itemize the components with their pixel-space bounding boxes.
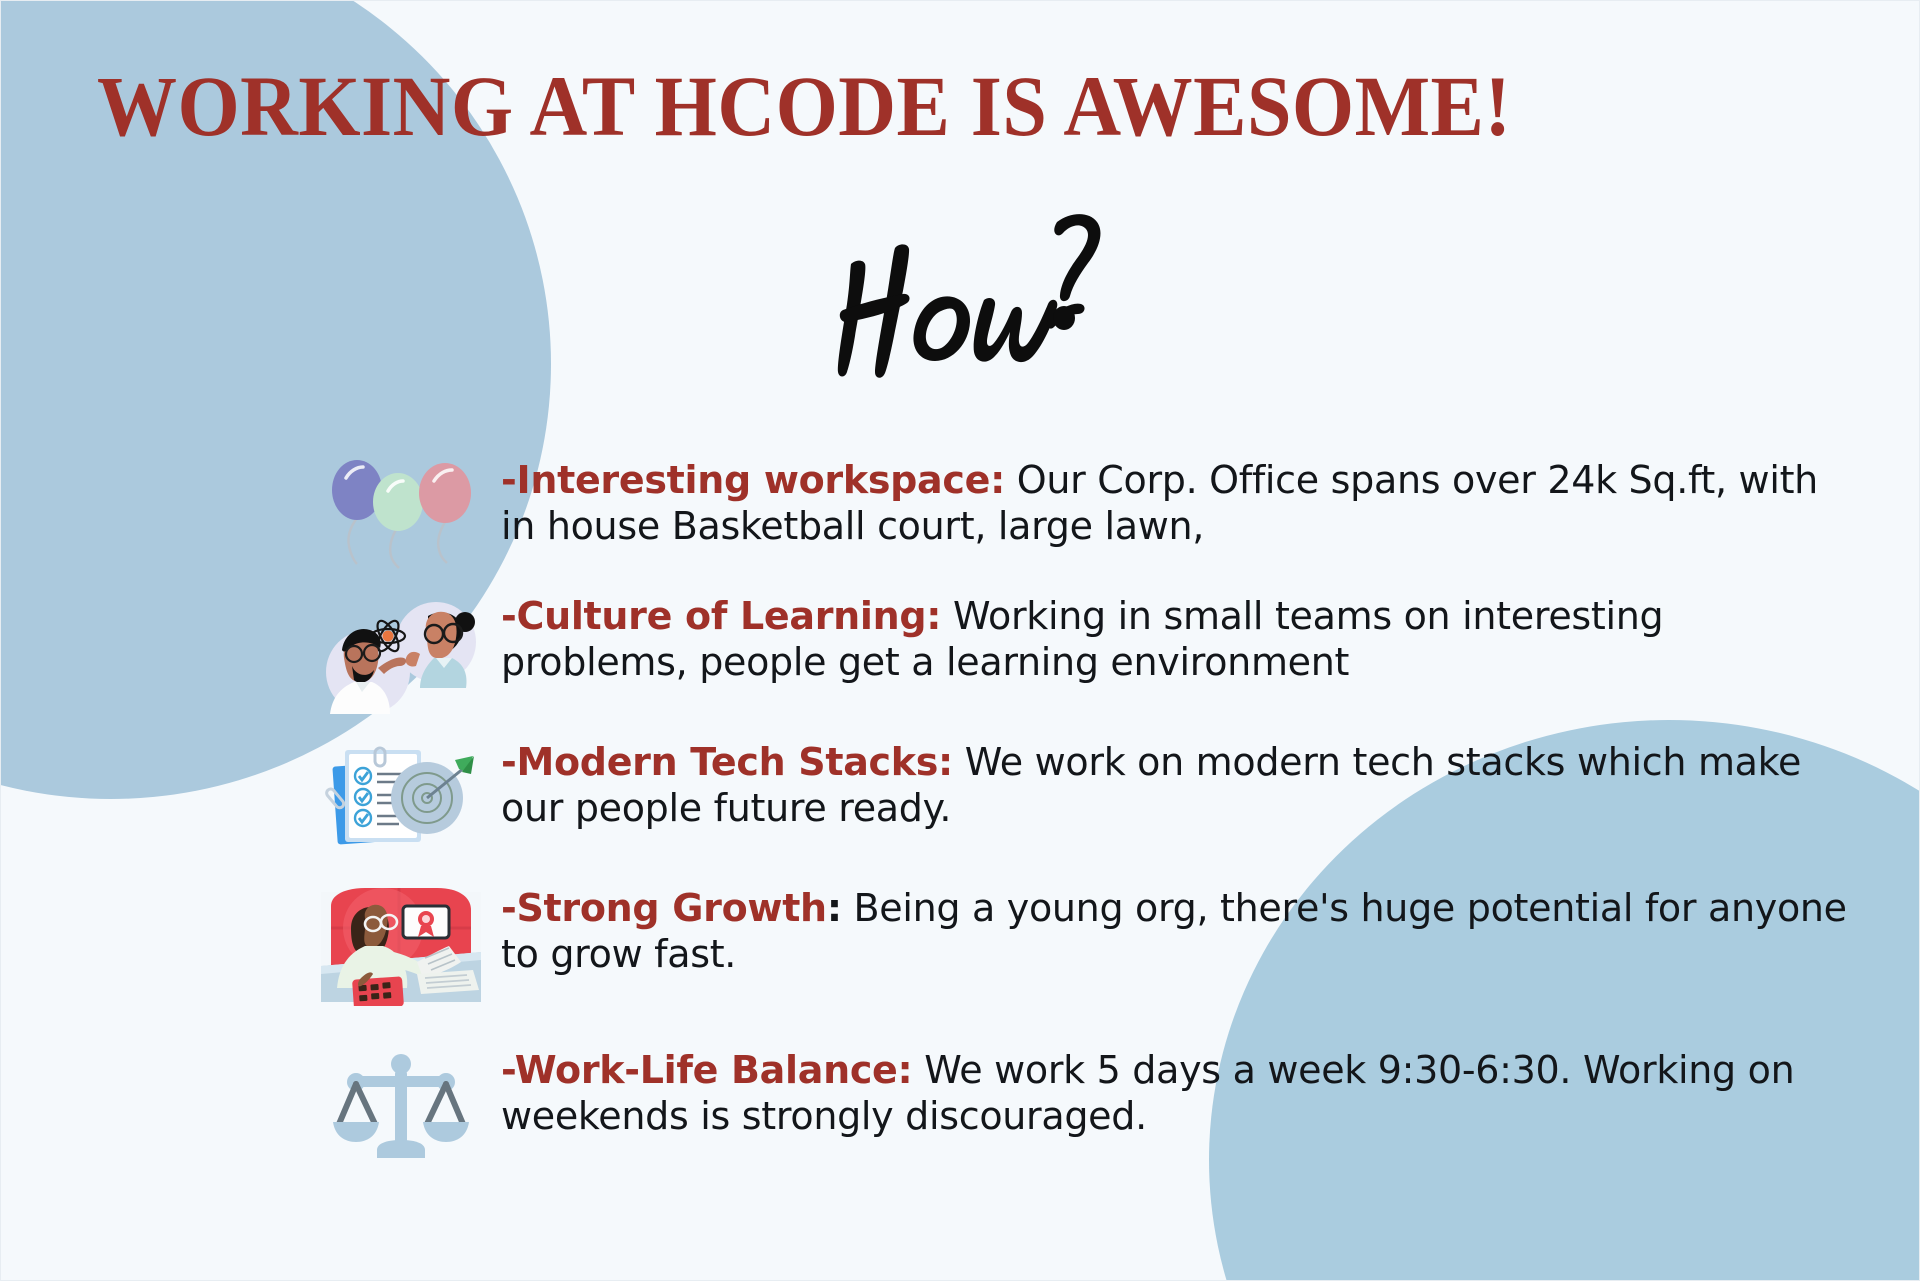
bullet-lead: Work-Life Balance:: [515, 1048, 913, 1092]
list-item-text: -Modern Tech Stacks: We work on modern t…: [501, 738, 1861, 831]
list-item: -Work-Life Balance: We work 5 days a wee…: [301, 1046, 1861, 1168]
balance-scale-icon: [301, 1046, 501, 1168]
bullet-list: -Interesting workspace: Our Corp. Office…: [301, 456, 1861, 1168]
list-item: -Culture of Learning: Working in small t…: [301, 592, 1861, 716]
checklist-target-icon: [301, 738, 501, 862]
woman-at-desk-award-icon: [301, 884, 501, 1006]
list-item: -Interesting workspace: Our Corp. Office…: [301, 456, 1861, 570]
bullet-lead: Culture of Learning:: [516, 594, 941, 638]
list-item-text: -Culture of Learning: Working in small t…: [501, 592, 1861, 685]
balloons-icon: [301, 456, 501, 570]
bullet-dash: -: [501, 594, 516, 638]
bullet-dash: -: [501, 458, 516, 502]
list-item: -Strong Growth: Being a young org, there…: [301, 884, 1861, 1006]
page-title: WORKING AT HCODE IS AWESOME!: [97, 63, 1715, 149]
bullet-dash: -: [501, 886, 516, 930]
list-item: -Modern Tech Stacks: We work on modern t…: [301, 738, 1861, 862]
bullet-lead-colon: :: [827, 886, 842, 930]
bullet-lead: Interesting workspace:: [516, 458, 1005, 502]
subheading-how: How?: [821, 206, 1121, 391]
learning-people-atom-icon: [301, 592, 501, 716]
subheading-how-label: How?: [821, 206, 822, 207]
presentation-slide: WORKING AT HCODE IS AWESOME! How?: [0, 0, 1920, 1281]
list-item-text: -Strong Growth: Being a young org, there…: [501, 884, 1861, 977]
bullet-dash: -: [501, 1048, 515, 1092]
bullet-dash: -: [501, 740, 516, 784]
list-item-text: -Interesting workspace: Our Corp. Office…: [501, 456, 1861, 549]
bullet-lead: Strong Growth: [516, 886, 826, 930]
list-item-text: -Work-Life Balance: We work 5 days a wee…: [501, 1046, 1861, 1139]
bullet-lead: Modern Tech Stacks:: [516, 740, 952, 784]
